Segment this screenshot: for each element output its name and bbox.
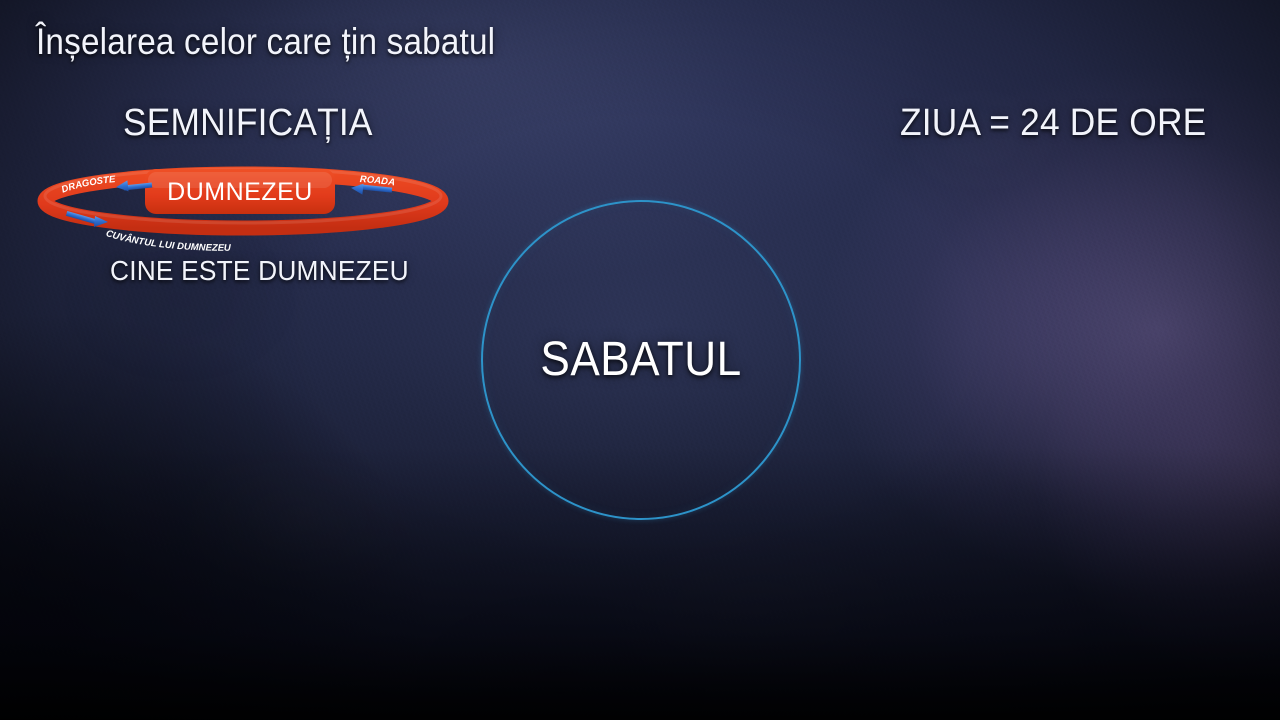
- heading-semnificatia: SEMNIFICAȚIA: [123, 102, 373, 145]
- slide-title: Înșelarea celor care țin sabatul: [36, 21, 495, 63]
- circle-label-sabatul: SABATUL: [494, 332, 788, 387]
- presentation-slide: Înșelarea celor care țin sabatul SEMNIFI…: [0, 0, 1280, 720]
- heading-ziua-24-de-ore: ZIUA = 24 DE ORE: [900, 102, 1206, 145]
- dumnezeu-box-label: DUMNEZEU: [167, 178, 313, 206]
- dumnezeu-box: DUMNEZEU: [145, 169, 335, 214]
- dumnezeu-cycle-diagram: DUMNEZEU DRAGOSTEA ROADA: [38, 160, 458, 238]
- sabatul-circle-group: SABATUL: [481, 200, 801, 520]
- subheading-cine-este-dumnezeu: CINE ESTE DUMNEZEU: [110, 255, 409, 287]
